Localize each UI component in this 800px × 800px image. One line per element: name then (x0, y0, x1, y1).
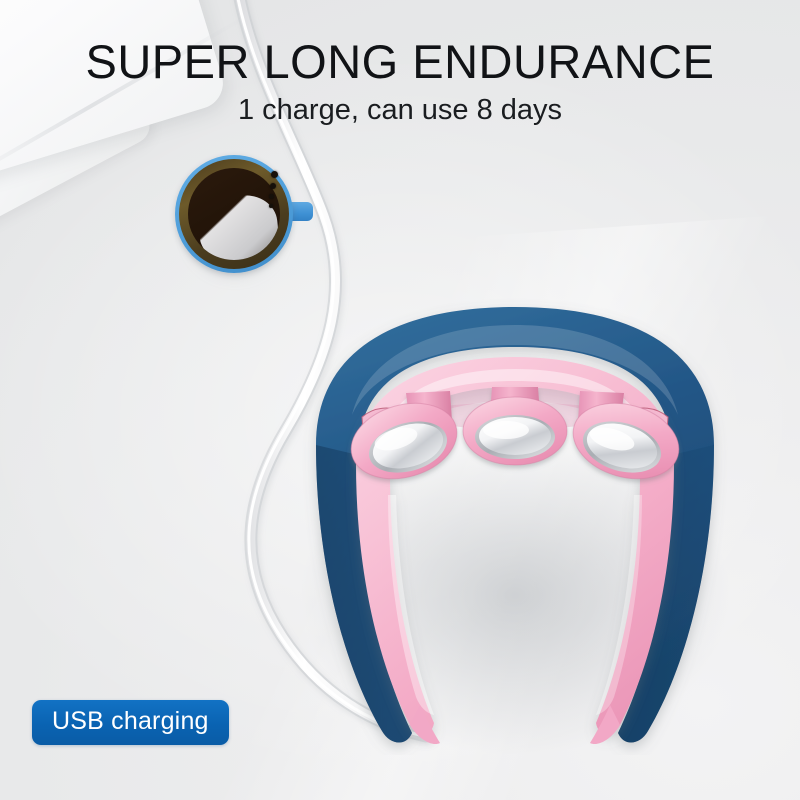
usb-charging-badge[interactable]: USB charging (32, 700, 229, 745)
neck-massager-device (300, 295, 730, 755)
coffee-bubbles (269, 171, 285, 223)
coffee-cup-body (175, 155, 293, 273)
page-title: SUPER LONG ENDURANCE (0, 38, 800, 85)
poster-canvas: SUPER LONG ENDURANCE 1 charge, can use 8… (0, 0, 800, 800)
coffee-liquid (188, 168, 280, 260)
page-subtitle: 1 charge, can use 8 days (0, 96, 800, 125)
coffee-reflection (196, 192, 280, 260)
coffee-cup (175, 155, 293, 273)
